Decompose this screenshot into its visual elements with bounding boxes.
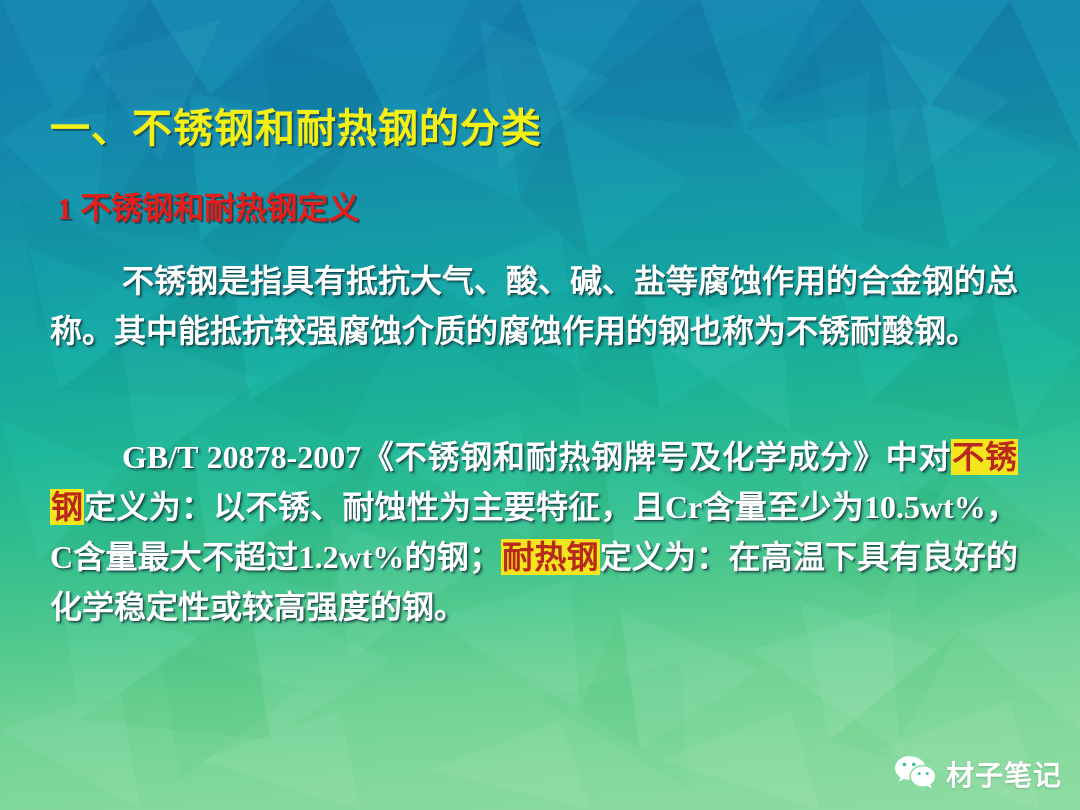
page-title: 一、不锈钢和耐热钢的分类 <box>50 96 542 154</box>
paragraph-definition: 不锈钢是指具有抵抗大气、酸、碱、盐等腐蚀作用的合金钢的总称。其中能抵抗较强腐蚀介… <box>50 256 1018 356</box>
slide-canvas: 一、不锈钢和耐热钢的分类 1 不锈钢和耐热钢定义 不锈钢是指具有抵抗大气、酸、碱… <box>0 0 1080 810</box>
paragraph-1-text: 不锈钢是指具有抵抗大气、酸、碱、盐等腐蚀作用的合金钢的总称。其中能抵抗较强腐蚀介… <box>50 263 1018 349</box>
paragraph-standard: GB/T 20878-2007《不锈钢和耐热钢牌号及化学成分》中对不锈钢定义为：… <box>50 432 1018 632</box>
paragraph-2-part-1: GB/T 20878-2007《不锈钢和耐热钢牌号及化学成分》中对 <box>122 439 951 475</box>
wechat-icon <box>894 755 936 794</box>
section-heading: 1 不锈钢和耐热钢定义 <box>57 183 359 228</box>
watermark: 材子笔记 <box>894 754 1062 794</box>
highlight-heat-resistant-steel: 耐热钢 <box>501 539 600 575</box>
watermark-label: 材子笔记 <box>946 754 1062 794</box>
